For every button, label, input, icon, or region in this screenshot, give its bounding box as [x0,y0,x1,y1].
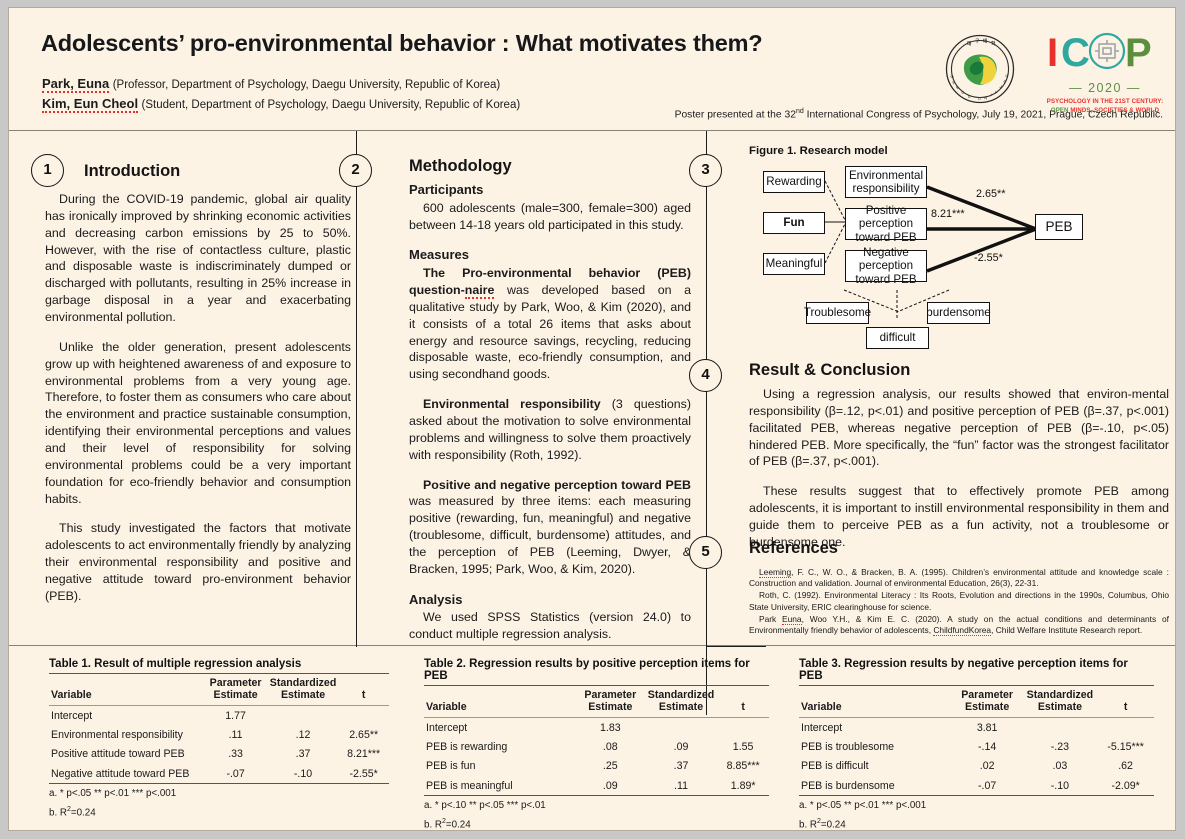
table-3-note-a: a. * p<.05 ** p<.01 *** p<.001 [799,799,1154,814]
table-1-cell-variable: Negative attitude toward PEB [49,764,203,784]
table-header-row: Variable ParameterEstimate StandardizedE… [424,686,769,718]
box-rewarding: Rewarding [763,171,825,193]
table-3-cell-t: -2.09* [1097,776,1154,796]
icp-tagline-line2: OPEN MINDS, SOCIETIES & WORLD [1031,107,1176,116]
column-divider-1 [356,131,357,647]
table-3-block: Table 3. Regression results by negative … [799,658,1154,831]
box-negative-perception: Negative perception toward PEB [845,250,927,282]
table-2-cell-parameter: .25 [576,757,645,776]
poster-body: 1 Introduction During the COVID-19 pande… [9,130,1175,646]
section-title-introduction: Introduction [84,162,180,181]
table-1-note-b: b. R2=0.24 [49,805,389,821]
table-3-cell-variable: PEB is burdensome [799,776,952,796]
table-3-cell-parameter: -.07 [952,776,1023,796]
table-3-cell-t [1097,718,1154,738]
svg-text:P: P [1125,31,1153,74]
svg-text:대: 대 [983,37,987,44]
table-row: Intercept 1.83 [424,718,769,738]
table-row: Positive attitude toward PEB .33 .37 8.2… [49,745,389,764]
box-fun: Fun [763,212,825,234]
table-row: Intercept 3.81 [799,718,1154,738]
table-row: PEB is fun .25 .37 8.85*** [424,757,769,776]
table-2-cell-parameter: 1.83 [576,718,645,738]
table-1-cell-standardized: .12 [268,726,339,745]
table-1-header-t: t [338,674,389,706]
table-2-header-variable: Variable [424,686,576,718]
introduction-paragraph-3: This study investigated the factors that… [45,520,351,604]
table-1-cell-standardized: -.10 [268,764,339,784]
path-neg-to-peb [927,229,1036,271]
table-3-cell-variable: PEB is troublesome [799,738,952,757]
section-marker-4: 4 [689,359,722,392]
table-2-caption: Table 2. Regression results by positive … [424,658,769,682]
section-marker-1: 1 [31,154,64,187]
author-1-name: Park, Euna [42,76,109,93]
methodology-body: Participants 600 adolescents (male=300, … [409,181,691,643]
table-3-caption: Table 3. Regression results by negative … [799,658,1154,682]
table-2-cell-parameter: .08 [576,738,645,757]
path-meaningful-to-pos [825,222,846,263]
table-3-header-variable: Variable [799,686,952,718]
table-2-cell-standardized: .37 [645,757,717,776]
methodology-measure-2: Environmental responsibility (3 question… [409,396,691,463]
methodology-measure-3: Positive and negative perception toward … [409,477,691,578]
table-2-cell-standardized [645,718,717,738]
table-3-header-parameter-estimate: ParameterEstimate [952,686,1023,718]
table-2-cell-standardized: .11 [645,776,717,796]
table-1-cell-variable: Environmental responsibility [49,726,203,745]
svg-text:대: 대 [967,40,971,47]
table-row: PEB is difficult .02 .03 .62 [799,757,1154,776]
table-row: PEB is burdensome -.07 -.10 -2.09* [799,776,1154,796]
table-3-cell-t: .62 [1097,757,1154,776]
table-1-header-parameter-estimate: ParameterEstimate [203,674,267,706]
table-row: PEB is rewarding .08 .09 1.55 [424,738,769,757]
daegu-university-logo: 대구대학 D A E G U U N I V 1 9 5 [945,34,1015,104]
page-title: Adolescents’ pro-environmental behavior … [41,30,762,57]
table-2-cell-parameter: .09 [576,776,645,796]
section-title-references: References [749,539,838,558]
table-header-row: Variable ParameterEstimate StandardizedE… [799,686,1154,718]
table-1-note-a: a. * p<.05 ** p<.01 *** p<.001 [49,787,389,802]
column-divider-2 [706,131,707,715]
box-difficult: difficult [866,327,929,349]
table-1-cell-standardized [268,706,339,726]
table-3-note-b: b. R2=0.24 [799,817,1154,831]
icp-year-label: — 2020 — [1031,81,1176,95]
edge-label-pos-to-peb: 8.21*** [931,208,965,220]
table-header-row: Variable ParameterEstimate StandardizedE… [49,674,389,706]
table-1-cell-variable: Intercept [49,706,203,726]
author-line-1: Park, Euna (Professor, Department of Psy… [42,76,520,91]
box-positive-perception: Positive perception toward PEB [845,208,927,240]
svg-text:C: C [1061,31,1091,74]
table-3-cell-standardized: -.10 [1023,776,1098,796]
table-2-cell-variable: PEB is fun [424,757,576,776]
svg-text:U: U [978,96,981,101]
table-2-cell-variable: PEB is rewarding [424,738,576,757]
author-block: Park, Euna (Professor, Department of Psy… [42,76,520,116]
box-troublesome: Troublesome [806,302,869,324]
table-2-cell-t: 1.89* [717,776,769,796]
table-2: Variable ParameterEstimate StandardizedE… [424,685,769,796]
table-1-cell-parameter: .11 [203,726,267,745]
table-2-cell-t [717,718,769,738]
table-2-block: Table 2. Regression results by positive … [424,658,769,831]
result-paragraph-1: Using a regression analysis, our results… [749,386,1169,470]
icp-tagline: PSYCHOLOGY IN THE 21ST CENTURY: OPEN MIN… [1031,98,1176,116]
table-1-cell-t: -2.55* [338,764,389,784]
tables-zone: Table 1. Result of multiple regression a… [9,646,1175,828]
table-1-cell-parameter: 1.77 [203,706,267,726]
methodology-subhead-analysis: Analysis [409,591,691,609]
table-3-cell-standardized: .03 [1023,757,1098,776]
poster-canvas: Adolescents’ pro-environmental behavior … [8,7,1176,831]
table-2-header-standardized-estimate: StandardizedEstimate [645,686,717,718]
author-2-affiliation: (Student, Department of Psychology, Daeg… [142,99,521,111]
section-title-result: Result & Conclusion [749,361,910,380]
section-title-methodology: Methodology [409,157,512,176]
table-row: PEB is troublesome -.14 -.23 -5.15*** [799,738,1154,757]
methodology-measure-1: The Pro-environmental behavior (PEB) que… [409,265,691,383]
table-3-cell-parameter: 3.81 [952,718,1023,738]
table-1-header-standardized-estimate: StandardizedEstimate [268,674,339,706]
table-1: Variable ParameterEstimate StandardizedE… [49,673,389,784]
poster-header: Adolescents’ pro-environmental behavior … [9,8,1175,130]
table-1-cell-standardized: .37 [268,745,339,764]
box-meaningful: Meaningful [763,253,825,275]
methodology-participants-text: 600 adolescents (male=300, female=300) a… [409,200,691,234]
table-2-cell-t: 8.85*** [717,757,769,776]
result-body: Using a regression analysis, our results… [749,386,1169,551]
table-2-cell-variable: PEB is meaningful [424,776,576,796]
table-3-cell-parameter: -.14 [952,738,1023,757]
table-1-cell-t: 8.21*** [338,745,389,764]
table-1-cell-t [338,706,389,726]
table-1-block: Table 1. Result of multiple regression a… [49,658,389,821]
table-2-note-a: a. * p<.10 ** p<.05 *** p<.01 [424,799,769,814]
author-line-2: Kim, Eun Cheol (Student, Department of P… [42,96,520,111]
box-peb-outcome: PEB [1035,214,1083,240]
table-3-header-standardized-estimate: StandardizedEstimate [1023,686,1098,718]
table-3-header-t: t [1097,686,1154,718]
reference-item: Roth, C. (1992). Environmental Literacy … [749,590,1169,612]
table-1-cell-parameter: -.07 [203,764,267,784]
icp-2020-logo: I C P — 2020 — PSYCHOLOGY IN THE 21ST CE… [1031,30,1176,112]
introduction-body: During the COVID-19 pandemic, global air… [45,191,351,605]
table-1-cell-variable: Positive attitude toward PEB [49,745,203,764]
table-3-cell-standardized: -.23 [1023,738,1098,757]
table-3: Variable ParameterEstimate StandardizedE… [799,685,1154,796]
icp-tagline-line1: PSYCHOLOGY IN THE 21ST CENTURY: [1031,98,1176,107]
introduction-paragraph-2: Unlike the older generation, present ado… [45,339,351,508]
table-2-cell-t: 1.55 [717,738,769,757]
table-1-caption: Table 1. Result of multiple regression a… [49,658,389,670]
table-1-cell-parameter: .33 [203,745,267,764]
icp-wordmark: I C P [1031,30,1176,80]
section-marker-5: 5 [689,536,722,569]
table-2-cell-variable: Intercept [424,718,576,738]
ordinal-suffix: nd [796,108,804,115]
table-2-header-parameter-estimate: ParameterEstimate [576,686,645,718]
table-2-header-t: t [717,686,769,718]
research-model-diagram: Rewarding Fun Meaningful Environmental r… [749,159,1169,359]
methodology-subhead-participants: Participants [409,181,691,199]
table-3-cell-standardized [1023,718,1098,738]
table-3-cell-parameter: .02 [952,757,1023,776]
svg-text:I: I [1047,31,1059,74]
introduction-paragraph-1: During the COVID-19 pandemic, global air… [45,191,351,326]
box-burdensome: burdensome [927,302,990,324]
table-1-cell-t: 2.65** [338,726,389,745]
author-1-affiliation: (Professor, Department of Psychology, Da… [113,79,501,91]
methodology-subhead-measures: Measures [409,246,691,264]
table-row: Environmental responsibility .11 .12 2.6… [49,726,389,745]
references-list: Leeming, F. C., W. O., & Bracken, B. A. … [749,567,1169,637]
section-marker-2: 2 [339,154,372,187]
table-3-cell-variable: Intercept [799,718,952,738]
table-row: PEB is meaningful .09 .11 1.89* [424,776,769,796]
reference-item: Park Euna, Woo Y.H., & Kim E. C. (2020).… [749,614,1169,636]
box-environmental-responsibility: Environmental responsibility [845,166,927,198]
table-3-cell-t: -5.15*** [1097,738,1154,757]
edge-label-env-to-peb: 2.65** [976,188,1005,200]
section-marker-3: 3 [689,154,722,187]
table-row: Intercept 1.77 [49,706,389,726]
edge-label-neg-to-peb: -2.55* [974,252,1003,264]
table-1-header-variable: Variable [49,674,203,706]
table-2-note-b: b. R2=0.24 [424,817,769,831]
methodology-analysis-text: We used SPSS Statistics (version 24.0) t… [409,609,691,643]
table-2-cell-standardized: .09 [645,738,717,757]
figure-caption: Figure 1. Research model [749,145,888,157]
path-rewarding-to-pos [825,181,846,222]
author-2-name: Kim, Eun Cheol [42,96,138,113]
table-3-cell-variable: PEB is difficult [799,757,952,776]
table-row: Negative attitude toward PEB -.07 -.10 -… [49,764,389,784]
reference-item: Leeming, F. C., W. O., & Bracken, B. A. … [749,567,1169,589]
